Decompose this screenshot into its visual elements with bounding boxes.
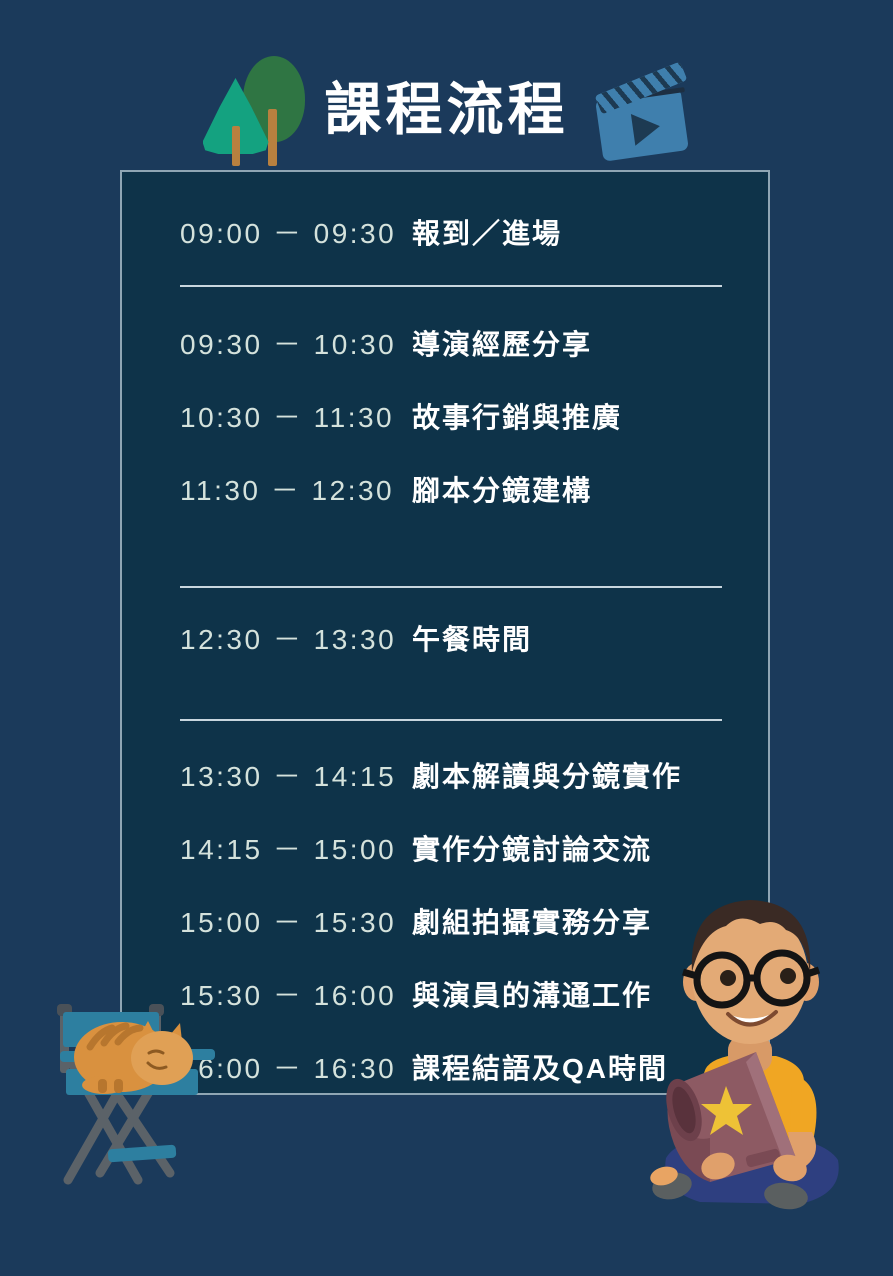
schedule-group-checkin: 09:00 － 09:30 報到／進場 [180, 212, 725, 285]
row-activity: 故事行銷與推廣 [412, 396, 622, 436]
table-row[interactable]: 12:30 － 13:30 午餐時間 [180, 618, 725, 691]
poster-header: 課程流程 [0, 50, 893, 170]
trees-icon [199, 54, 303, 166]
schedule-group-morning: 09:30 － 10:30 導演經歷分享 10:30 － 11:30 故事行銷與… [180, 323, 725, 542]
row-time: 11:30 － 12:30 [180, 469, 412, 509]
tree-front-trunk [232, 126, 240, 166]
table-row[interactable]: 13:30 － 14:15 劇本解讀與分鏡實作 [180, 755, 725, 828]
table-row[interactable]: 09:00 － 09:30 報到／進場 [180, 212, 725, 285]
row-time: 09:00 － 09:30 [180, 212, 412, 252]
table-row[interactable]: 11:30 － 12:30 腳本分鏡建構 [180, 469, 725, 542]
row-time: 12:30 － 13:30 [180, 618, 412, 658]
row-activity: 導演經歷分享 [412, 323, 592, 363]
row-time: 10:30 － 11:30 [180, 396, 412, 436]
course-schedule-poster: 課程流程 09:00 － 09:30 報到／進場 09:30 － 10:30 導… [0, 0, 893, 1276]
row-activity: 午餐時間 [412, 618, 532, 658]
spacer-3 [180, 588, 725, 618]
row-activity: 劇本解讀與分鏡實作 [412, 755, 682, 795]
play-triangle-icon [630, 110, 661, 145]
table-row[interactable]: 10:30 － 11:30 故事行銷與推廣 [180, 396, 725, 469]
row-activity: 腳本分鏡建構 [412, 469, 592, 509]
table-row[interactable]: 09:30 － 10:30 導演經歷分享 [180, 323, 725, 396]
row-time: 15:00 － 15:30 [180, 901, 412, 941]
boy-with-megaphone-icon [600, 890, 893, 1220]
row-activity: 實作分鏡討論交流 [412, 828, 652, 868]
row-time: 13:30 － 14:15 [180, 755, 412, 795]
page-title: 課程流程 [325, 82, 569, 139]
schedule-group-lunch: 12:30 － 13:30 午餐時間 [180, 618, 725, 691]
row-time: 14:15 － 15:00 [180, 828, 412, 868]
spacer-5 [180, 721, 725, 755]
spacer-4 [180, 691, 725, 719]
row-time: 09:30 － 10:30 [180, 323, 412, 363]
row-activity: 報到／進場 [412, 212, 562, 252]
spacer-2 [180, 542, 725, 586]
director-chair-with-cat-icon [30, 995, 220, 1190]
tree-back-trunk [268, 109, 277, 166]
spacer-top [180, 170, 725, 212]
spacer-1 [180, 287, 725, 323]
clapperboard-icon [591, 60, 695, 160]
